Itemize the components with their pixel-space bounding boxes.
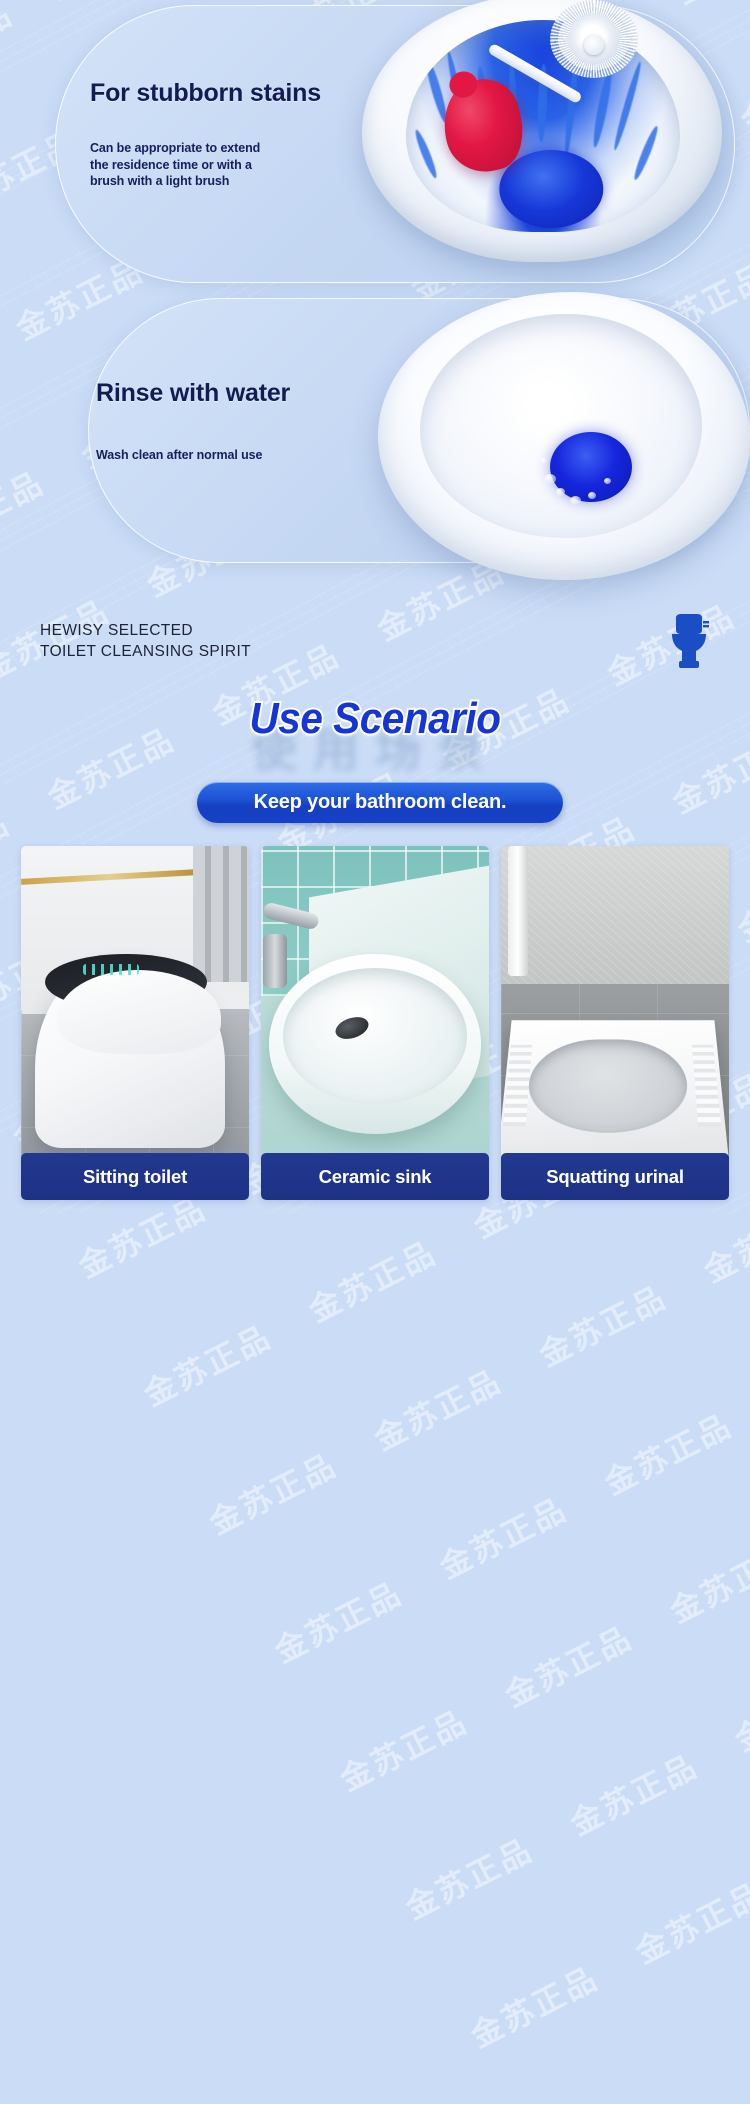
toilet-bowl-brush-illustration xyxy=(362,0,722,262)
step-1-body: Can be appropriate to extend the residen… xyxy=(90,140,260,190)
toilet-icon xyxy=(668,614,710,668)
squatting-urinal-photo xyxy=(501,846,729,1200)
step-1-heading: For stubborn stains xyxy=(90,79,321,108)
scenario-card-ceramic-sink[interactable]: Ceramic sink xyxy=(261,846,489,1200)
clean-toilet-bowl-illustration xyxy=(378,292,750,580)
cta-label: Keep your bathroom clean. xyxy=(254,791,507,814)
toilet-brush-hub xyxy=(584,35,604,55)
brand-line-2: TOILET CLEANSING SPIRIT xyxy=(40,641,251,662)
step-2-heading: Rinse with water xyxy=(96,379,290,408)
scenario-card-sitting-toilet[interactable]: Sitting toilet xyxy=(21,846,249,1200)
keep-bathroom-clean-button[interactable]: Keep your bathroom clean. xyxy=(197,782,563,823)
brand-block: HEWISY SELECTED TOILET CLEANSING SPIRIT xyxy=(40,620,251,662)
sitting-toilet-photo xyxy=(21,846,249,1200)
card-caption: Squatting urinal xyxy=(501,1153,729,1200)
blue-liquid-puddle xyxy=(499,150,603,228)
ceramic-sink-photo xyxy=(261,846,489,1200)
card-caption: Ceramic sink xyxy=(261,1153,489,1200)
scenario-card-list: Sitting toilet Ceramic sink Squatting ur… xyxy=(21,846,729,1200)
step-2-body: Wash clean after normal use xyxy=(96,447,262,464)
brand-line-1: HEWISY SELECTED xyxy=(40,620,251,641)
scenario-card-squatting-urinal[interactable]: Squatting urinal xyxy=(501,846,729,1200)
card-caption: Sitting toilet xyxy=(21,1153,249,1200)
bowl2-inner xyxy=(420,314,702,538)
scenario-title: Use Scenario xyxy=(30,694,720,744)
